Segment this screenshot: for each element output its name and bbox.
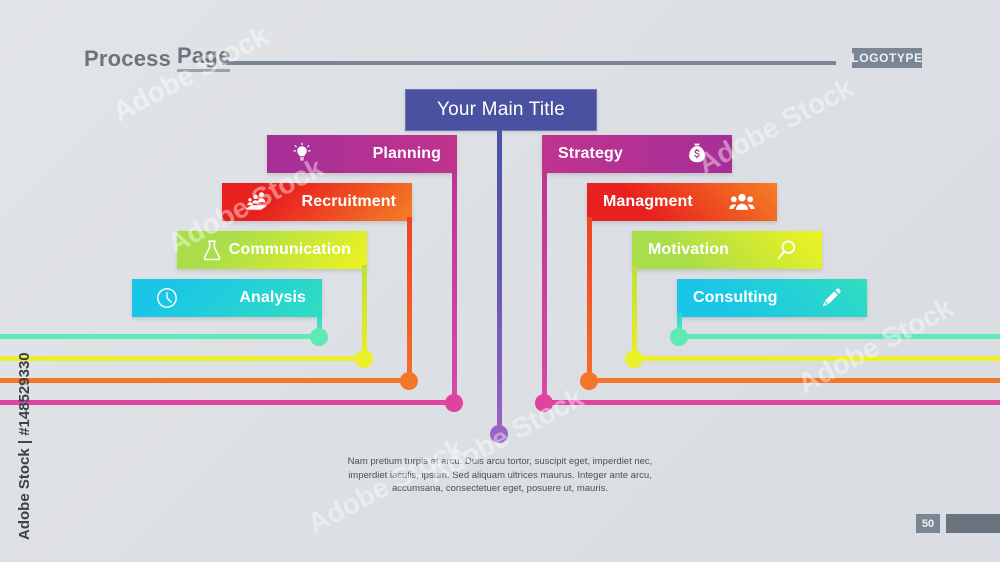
motivation-drop-line: [632, 265, 637, 357]
body-paragraph: Nam pretium turpis et arcu. Duis arcu to…: [330, 455, 670, 496]
magnifier-icon: [774, 237, 800, 263]
communication-drop-line: [362, 265, 367, 357]
bar-managment-label: Managment: [603, 193, 693, 211]
communication-trunk-line: [0, 356, 362, 361]
clock-icon: [154, 285, 180, 311]
main-title-label: Your Main Title: [437, 99, 565, 121]
bar-communication[interactable]: Communication: [177, 231, 367, 269]
analysis-trunk-line: [0, 334, 317, 339]
bar-planning[interactable]: Planning: [267, 135, 457, 173]
bar-recruitment-label: Recruitment: [302, 193, 396, 211]
bar-strategy-label: Strategy: [558, 145, 623, 163]
watermark-side: Adobe Stock | #148529330: [0, 0, 38, 562]
page-number-badge: 50: [916, 514, 940, 533]
strategy-trunk-line: [547, 400, 1000, 405]
main-title-box[interactable]: Your Main Title: [405, 89, 597, 131]
bar-motivation-label: Motivation: [648, 241, 729, 259]
flask-icon: [199, 237, 225, 263]
bar-managment[interactable]: Managment: [587, 183, 777, 221]
bar-recruitment[interactable]: Recruitment: [222, 183, 412, 221]
page-number-label: 50: [922, 518, 934, 530]
strategy-drop-line: [542, 169, 547, 403]
lightbulb-icon: [289, 141, 315, 167]
footer-bar: [946, 514, 1000, 533]
bar-strategy[interactable]: Strategy: [542, 135, 732, 173]
pencil-icon: [819, 285, 845, 311]
bar-communication-label: Communication: [229, 241, 351, 259]
planning-drop-line: [452, 169, 457, 403]
page-title-part1: Process: [84, 46, 171, 72]
users-icon: [729, 189, 755, 215]
bar-analysis[interactable]: Analysis: [132, 279, 322, 317]
header-divider: [222, 61, 836, 65]
slide-canvas: Process Page LOGOTYPE Your Main Title Pl…: [0, 0, 1000, 562]
bar-planning-label: Planning: [373, 145, 441, 163]
watermark-tile: Adobe Stock: [108, 20, 274, 129]
planning-trunk-line: [0, 400, 452, 405]
logotype-label: LOGOTYPE: [851, 51, 922, 65]
recruitment-drop-line: [407, 217, 412, 381]
consulting-trunk-line: [682, 334, 1000, 339]
bar-motivation[interactable]: Motivation: [632, 231, 822, 269]
center-stem-line: [497, 129, 502, 434]
managment-trunk-line: [592, 378, 1000, 383]
logotype-badge: LOGOTYPE: [852, 48, 922, 68]
people-group-icon: [244, 189, 270, 215]
page-title: Process Page: [84, 43, 230, 72]
bar-consulting[interactable]: Consulting: [677, 279, 867, 317]
money-bag-icon: [684, 141, 710, 167]
page-title-part2: Page: [177, 43, 230, 72]
managment-drop-line: [587, 217, 592, 381]
bar-analysis-label: Analysis: [239, 289, 306, 307]
bar-consulting-label: Consulting: [693, 289, 778, 307]
watermark-side-text: Adobe Stock | #148529330: [16, 352, 33, 540]
recruitment-trunk-line: [0, 378, 407, 383]
motivation-trunk-line: [637, 356, 1000, 361]
center-stem-dot: [490, 425, 508, 443]
